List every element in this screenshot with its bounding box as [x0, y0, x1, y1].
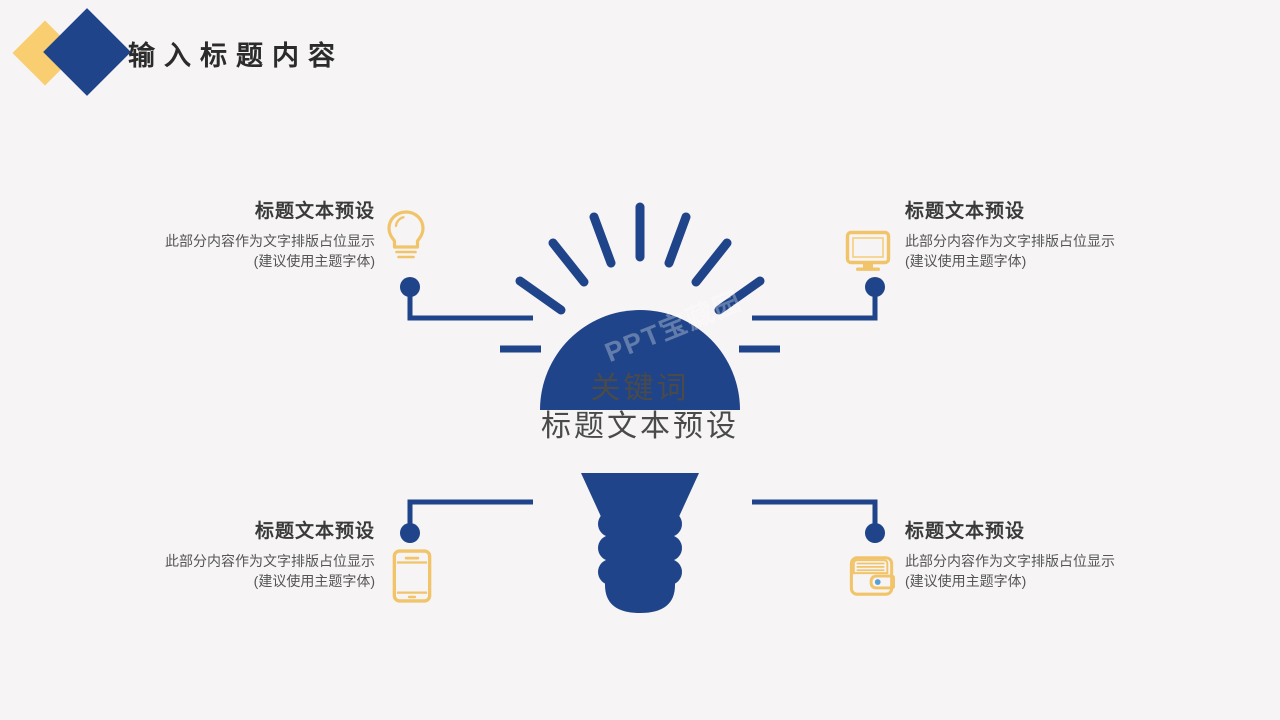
quadrant-title: 标题文本预设	[880, 196, 1280, 223]
quadrant-body-line2: (建议使用主题字体)	[0, 251, 375, 271]
quadrant-title: 标题文本预设	[880, 516, 1280, 543]
slide-header: 输入标题内容	[0, 0, 1280, 110]
quadrant-bottom-left: 标题文本预设 此部分内容作为文字排版占位显示 (建议使用主题字体)	[0, 516, 400, 591]
logo-mark	[18, 13, 128, 95]
quadrant-body: 此部分内容作为文字排版占位显示 (建议使用主题字体)	[880, 231, 1280, 271]
quadrant-top-left: 标题文本预设 此部分内容作为文字排版占位显示 (建议使用主题字体)	[0, 196, 400, 271]
connector-top-right	[752, 276, 887, 324]
connector-bottom-right	[752, 496, 887, 544]
quadrant-body: 此部分内容作为文字排版占位显示 (建议使用主题字体)	[0, 231, 400, 271]
quadrant-body-line2: (建议使用主题字体)	[905, 571, 1280, 591]
center-keyword-line: 关键词	[440, 370, 840, 408]
quadrant-body-line1: 此部分内容作为文字排版占位显示	[905, 551, 1280, 571]
quadrant-body: 此部分内容作为文字排版占位显示 (建议使用主题字体)	[0, 551, 400, 591]
quadrant-top-right: 标题文本预设 此部分内容作为文字排版占位显示 (建议使用主题字体)	[880, 196, 1280, 271]
quadrant-body-line2: (建议使用主题字体)	[0, 571, 375, 591]
quadrant-title: 标题文本预设	[0, 196, 400, 223]
diamond-blue-icon	[43, 8, 131, 96]
quadrant-body-line2: (建议使用主题字体)	[905, 251, 1280, 271]
quadrant-body-line1: 此部分内容作为文字排版占位显示	[905, 231, 1280, 251]
quadrant-title: 标题文本预设	[0, 516, 400, 543]
quadrant-body-line1: 此部分内容作为文字排版占位显示	[0, 231, 375, 251]
quadrant-body: 此部分内容作为文字排版占位显示 (建议使用主题字体)	[880, 551, 1280, 591]
connector-top-left	[398, 276, 533, 324]
center-keyword-label: 关键词 标题文本预设	[440, 370, 840, 446]
quadrant-body-line1: 此部分内容作为文字排版占位显示	[0, 551, 375, 571]
center-title-line: 标题文本预设	[440, 408, 840, 446]
bulb-base-icon	[565, 473, 715, 613]
quadrant-bottom-right: 标题文本预设 此部分内容作为文字排版占位显示 (建议使用主题字体)	[880, 516, 1280, 591]
page-title: 输入标题内容	[128, 34, 344, 73]
connector-bottom-left	[398, 496, 533, 544]
